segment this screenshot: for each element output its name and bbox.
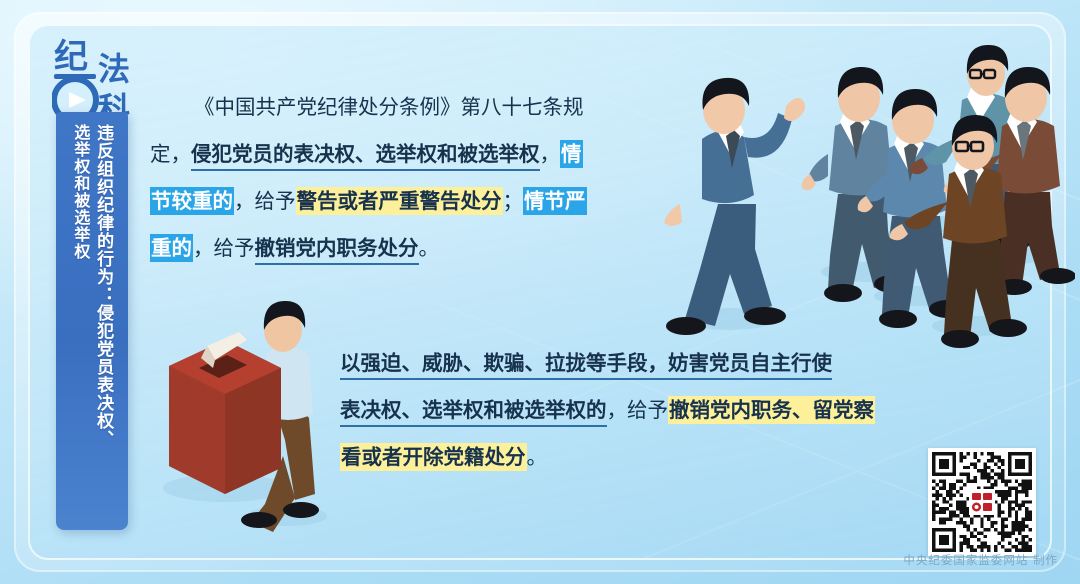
text-run-plain: ，给予 bbox=[234, 189, 296, 213]
text-line: 节较重的，给予警告或者严重警告处分；情节严 bbox=[150, 178, 670, 225]
regulation-paragraph-top: 《中国共产党纪律处分条例》第八十七条规定，侵犯党员的表决权、选举权和被选举权，情… bbox=[150, 84, 670, 272]
text-run-underline-bold: 侵犯党员的表决权、选举权和被选举权 bbox=[191, 142, 540, 171]
text-run-plain: ； bbox=[503, 189, 524, 213]
figure-protagonist bbox=[664, 78, 805, 335]
logo-char-2: 法 bbox=[98, 50, 130, 88]
poster-root: 纪 法 科 违反组织纪律的行为：侵犯党员表决权、 选举权和被选举权 《中国共产党… bbox=[0, 0, 1080, 584]
credit-text: 中央纪委国家监委网站 制作 bbox=[0, 552, 1058, 568]
vertical-title-banner: 违反组织纪律的行为：侵犯党员表决权、 选举权和被选举权 bbox=[56, 112, 128, 530]
logo-char-1: 纪 bbox=[54, 37, 88, 77]
text-run-underline-bold: 表决权、选举权和被选举权的 bbox=[340, 398, 607, 427]
text-line: 表决权、选举权和被选举权的，给予撤销党内职务、留党察 bbox=[340, 387, 985, 434]
banner-column-left: 选举权和被选举权 bbox=[71, 124, 91, 530]
text-run-highlight-blue: 情节严 bbox=[523, 187, 587, 215]
qr-code[interactable] bbox=[928, 448, 1036, 556]
ballot-box bbox=[169, 332, 281, 494]
text-run-plain: ，给予 bbox=[193, 236, 255, 260]
banner-column-right: 违反组织纪律的行为：侵犯党员表决权、 bbox=[92, 124, 113, 530]
text-run-highlight-blue: 节较重的 bbox=[150, 187, 234, 215]
text-run-highlight-yellow: 撤销党内职务、留党察 bbox=[668, 396, 875, 424]
text-run-highlight-yellow: 警告或者严重警告处分 bbox=[296, 187, 503, 215]
illustration-ballot-box bbox=[155, 288, 370, 533]
text-line: 看或者开除党籍处分。 bbox=[340, 434, 985, 481]
text-run-plain: 。 bbox=[527, 445, 548, 469]
text-run-underline-bold: 撤销党内职务处分 bbox=[255, 236, 419, 265]
text-run-plain: 《中国共产党纪律处分条例》第八十七条规 bbox=[194, 95, 584, 119]
text-run-plain: 。 bbox=[419, 236, 440, 260]
text-line: 《中国共产党纪律处分条例》第八十七条规 bbox=[150, 84, 670, 131]
text-line: 定，侵犯党员的表决权、选举权和被选举权，情 bbox=[150, 131, 670, 178]
text-run-highlight-blue: 重的 bbox=[150, 234, 193, 262]
text-run-underline-bold: 以强迫、威胁、欺骗、拉拢等手段，妨害党员自主行使 bbox=[340, 351, 832, 380]
illustration-people-group bbox=[660, 44, 1075, 354]
text-line: 重的，给予撤销党内职务处分。 bbox=[150, 225, 670, 272]
text-run-highlight-blue: 情 bbox=[560, 140, 583, 168]
text-run-plain: 定， bbox=[150, 142, 191, 166]
text-run-plain: ，给予 bbox=[607, 398, 669, 422]
qr-center-logo bbox=[969, 489, 995, 515]
regulation-paragraph-bottom: 以强迫、威胁、欺骗、拉拢等手段，妨害党员自主行使表决权、选举权和被选举权的，给予… bbox=[340, 340, 985, 481]
text-run-plain: ， bbox=[540, 142, 561, 166]
